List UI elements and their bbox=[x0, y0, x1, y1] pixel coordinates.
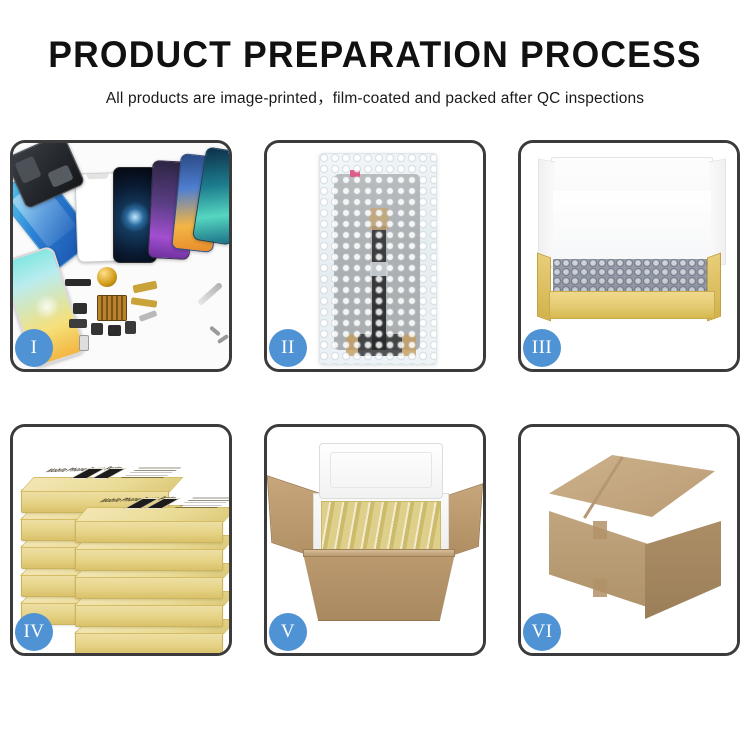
carton-top-face-icon bbox=[549, 455, 715, 517]
step-badge-6: VI bbox=[523, 613, 561, 651]
yellow-box-top-right: Mobile Phone Spare Parts bbox=[75, 519, 223, 543]
carton-rim-icon bbox=[303, 549, 455, 557]
carton-body-icon bbox=[303, 553, 455, 621]
yellow-box-item bbox=[75, 603, 223, 627]
white-foam-sheet-icon bbox=[553, 191, 711, 263]
step-panel-1: I bbox=[10, 140, 232, 372]
camera-module-part-icon bbox=[73, 303, 87, 314]
page-subtitle: All products are image-printed，film-coat… bbox=[0, 86, 750, 108]
screen-bottom-connector-icon bbox=[346, 334, 416, 356]
carton-tape-upper-icon bbox=[593, 521, 607, 539]
flex-cable-part-icon bbox=[132, 281, 157, 294]
steps-grid: I II bbox=[10, 140, 740, 680]
carton-right-face-icon bbox=[645, 521, 721, 619]
box-spec-text-block bbox=[175, 497, 229, 508]
step-badge-1: I bbox=[15, 329, 53, 367]
product-preparation-infographic: PRODUCT PREPARATION PROCESS All products… bbox=[0, 0, 750, 750]
repair-tool-icon bbox=[197, 282, 223, 307]
step-badge-5: V bbox=[269, 613, 307, 651]
yellow-box-item bbox=[75, 631, 223, 653]
step-badge-3: III bbox=[523, 329, 561, 367]
step-badge-2: II bbox=[269, 329, 307, 367]
step-badge-4: IV bbox=[15, 613, 53, 651]
packed-yellow-boxes-icon bbox=[321, 501, 441, 551]
yellow-box-item bbox=[75, 575, 223, 599]
step-panel-6: VI bbox=[518, 424, 740, 656]
small-part-5-icon bbox=[139, 310, 158, 322]
yellow-box-item bbox=[75, 547, 223, 571]
step-panel-2: II bbox=[264, 140, 486, 372]
page-title: PRODUCT PREPARATION PROCESS bbox=[15, 36, 735, 73]
small-part-1-icon bbox=[91, 323, 103, 335]
foam-lid-icon bbox=[319, 443, 443, 499]
pink-label-tag-icon bbox=[350, 170, 360, 177]
small-part-4-icon bbox=[79, 335, 89, 351]
small-part-3-icon bbox=[125, 321, 136, 334]
carton-tape-lower-icon bbox=[593, 579, 607, 597]
yellow-box-front-icon bbox=[549, 291, 715, 319]
step-panel-3: III bbox=[518, 140, 740, 372]
bubble-wrap-bag-icon bbox=[319, 153, 437, 365]
step-panel-4: Mobile Phone Spare Parts Mobile Phone Sp… bbox=[10, 424, 232, 656]
battery-bar-part-icon bbox=[65, 279, 91, 286]
connector-part-icon bbox=[69, 319, 87, 328]
flex-cable-2-part-icon bbox=[131, 297, 158, 308]
small-part-2-icon bbox=[108, 325, 121, 336]
step-panel-5: V bbox=[264, 424, 486, 656]
box-spec-text-block bbox=[121, 467, 183, 478]
gold-coil-part-icon bbox=[97, 267, 117, 287]
bubble-wrap-layer-icon bbox=[553, 259, 711, 293]
screw-1-icon bbox=[209, 326, 221, 337]
yellow-box-stack-icon: Mobile Phone Spare Parts Mobile Phone Sp… bbox=[17, 445, 229, 641]
header: PRODUCT PREPARATION PROCESS All products… bbox=[0, 0, 750, 108]
screen-flex-cable-icon bbox=[372, 226, 386, 350]
connector-grid-part-icon bbox=[97, 295, 127, 321]
